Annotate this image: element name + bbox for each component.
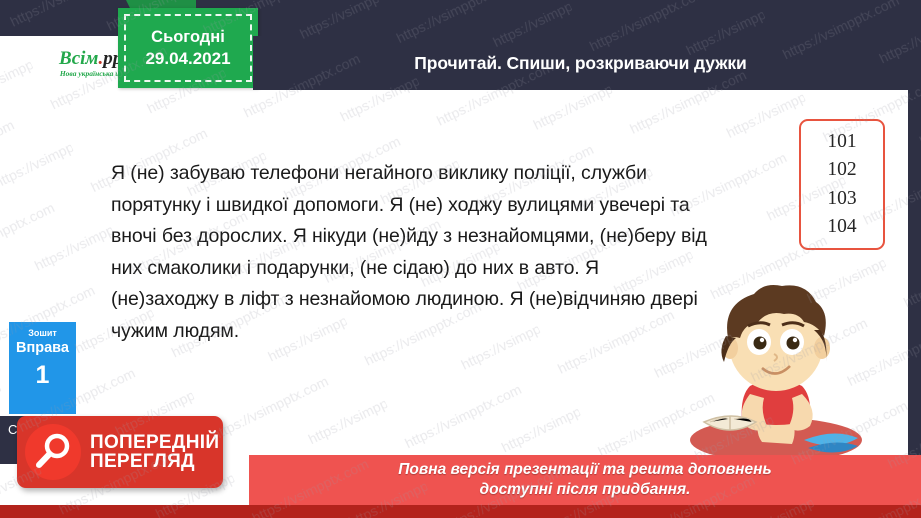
slide-canvas: Всім.pptx Нова українська школа Сьогодні… [0, 0, 921, 518]
page-number-item: 102 [827, 156, 856, 184]
boy-reading-book-illustration [664, 282, 888, 466]
today-date-value: 29.04.2021 [145, 48, 230, 69]
page-number-item: 104 [827, 213, 856, 241]
exercise-badge: Зошит Вправа 1 [9, 322, 76, 414]
purchase-notice-banner: Повна версія презентації та решта доповн… [249, 455, 921, 505]
today-date-badge: Сьогодні 29.04.2021 [118, 8, 258, 88]
page-number-item: 103 [827, 185, 856, 213]
preview-badge-text: ПОПЕРЕДНІЙ ПЕРЕГЛЯД [90, 433, 219, 472]
preview-badge-line-2: ПЕРЕГЛЯД [90, 452, 219, 471]
page-numbers-box: 101 102 103 104 [799, 119, 885, 250]
slide-header-bar: Прочитай. Спиши, розкриваючи дужки [253, 36, 908, 90]
page-number-item: 101 [827, 128, 856, 156]
magnifier-icon [25, 424, 81, 480]
exercise-badge-label: Вправа [9, 339, 76, 359]
preview-badge[interactable]: ПОПЕРЕДНІЙ ПЕРЕГЛЯД [17, 416, 223, 488]
page-title: Прочитай. Спиши, розкриваючи дужки [414, 53, 746, 74]
footer-partial-text: С [8, 422, 17, 437]
banner-base-strip [0, 505, 921, 518]
brand-logo-prefix: Всім [59, 48, 98, 69]
exercise-body-text: Я (не) забуваю телефони негайного виклик… [111, 158, 711, 347]
exercise-badge-kind: Зошит [9, 328, 76, 339]
purchase-notice-line-1: Повна версія презентації та решта доповн… [398, 460, 771, 480]
today-label: Сьогодні [151, 27, 225, 48]
exercise-badge-number: 1 [9, 362, 76, 390]
preview-badge-line-1: ПОПЕРЕДНІЙ [90, 433, 219, 452]
purchase-notice-line-2: доступні після придбання. [480, 480, 691, 500]
